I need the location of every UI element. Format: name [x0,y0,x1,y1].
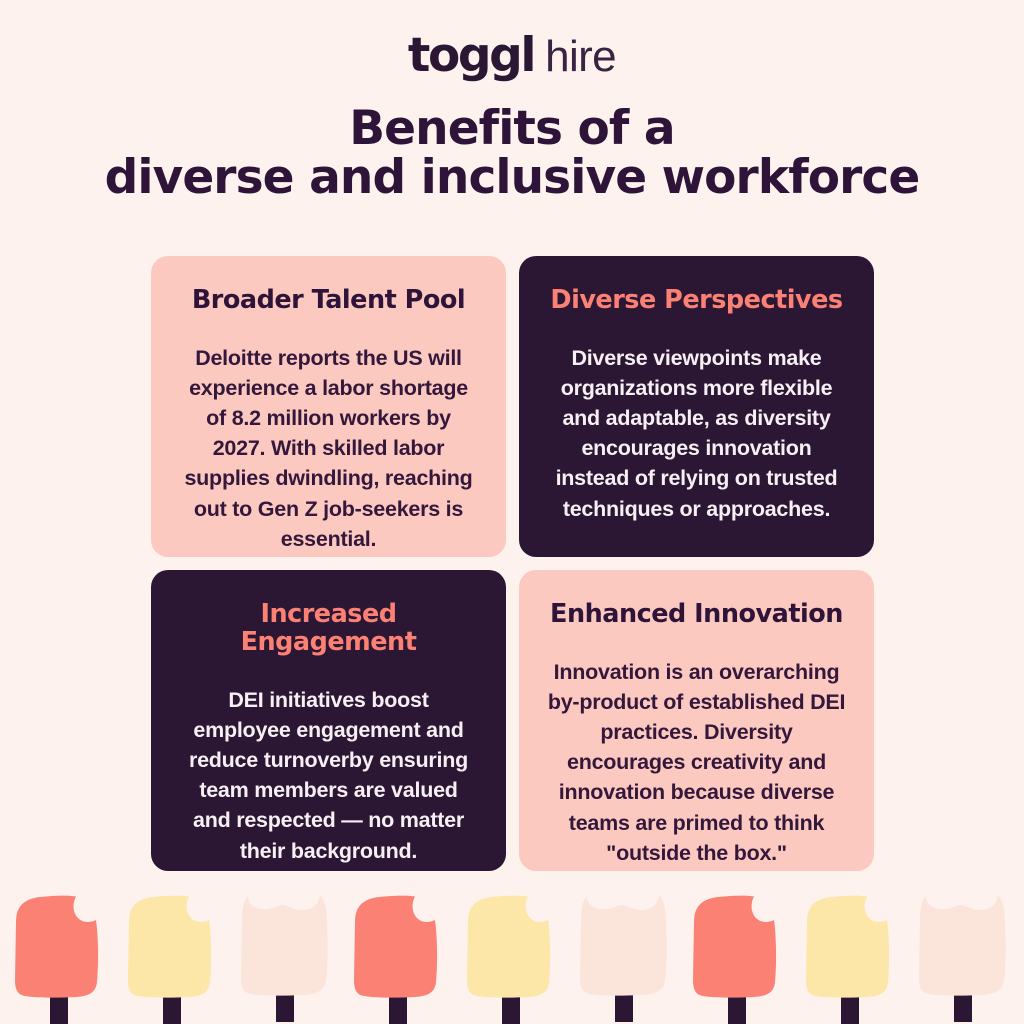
popsicle-decoration-row [0,888,1024,1024]
popsicle-yellow [801,888,901,1024]
popsicle-body [467,896,550,998]
popsicle-body [693,896,776,998]
benefit-card-body: Diverse viewpoints make organizations mo… [546,343,847,524]
popsicle-stick [502,988,520,1024]
popsicle-body [806,896,889,998]
popsicle-body [15,896,98,998]
popsicle-stick [50,988,68,1024]
benefit-card-grid: Broader Talent Pool Deloitte reports the… [151,256,874,878]
popsicle-cream [914,886,1014,1022]
page-title: Benefits of a diverse and inclusive work… [0,104,1024,203]
benefit-card-diverse-perspectives: Diverse Perspectives Diverse viewpoints … [519,256,874,557]
benefit-card-heading: Broader Talent Pool [192,286,465,314]
benefit-card-heading: Enhanced Innovation [550,600,843,628]
page-title-line-2: diverse and inclusive workforce [0,153,1024,202]
brand-logo: toggl hire [0,24,1024,86]
popsicle-yellow [462,888,562,1024]
popsicle-yellow [123,888,223,1024]
benefit-card-heading: Increased Engagement [178,600,479,656]
popsicle-stick [954,986,972,1022]
popsicle-stick [841,988,859,1024]
popsicle-body [241,895,328,996]
infographic-canvas: toggl hire Benefits of a diverse and inc… [0,0,1024,1024]
popsicle-coral [349,888,449,1024]
popsicle-cream [236,886,336,1022]
popsicle-coral [688,888,788,1024]
benefit-card-broader-talent-pool: Broader Talent Pool Deloitte reports the… [151,256,506,557]
popsicle-stick [389,988,407,1024]
popsicle-stick [163,988,181,1024]
popsicle-stick [615,986,633,1022]
logo-word-hire: hire [545,35,616,79]
popsicle-body [919,895,1006,996]
popsicle-coral [10,888,110,1024]
popsicle-body [354,896,437,998]
benefit-card-body: DEI initiatives boost employee engagemen… [178,685,479,866]
benefit-card-enhanced-innovation: Enhanced Innovation Innovation is an ove… [519,570,874,871]
logo-mark-toggl: toggl [408,32,534,79]
popsicle-stick [276,986,294,1022]
popsicle-cream [575,886,675,1022]
benefit-card-body: Innovation is an overarching by-product … [546,657,847,868]
popsicle-stick [728,988,746,1024]
benefit-card-increased-engagement: Increased Engagement DEI initiatives boo… [151,570,506,871]
page-title-line-1: Benefits of a [0,104,1024,153]
benefit-card-body: Deloitte reports the US will experience … [178,343,479,554]
popsicle-body [128,896,211,998]
benefit-card-heading: Diverse Perspectives [550,286,842,314]
popsicle-body [580,895,667,996]
